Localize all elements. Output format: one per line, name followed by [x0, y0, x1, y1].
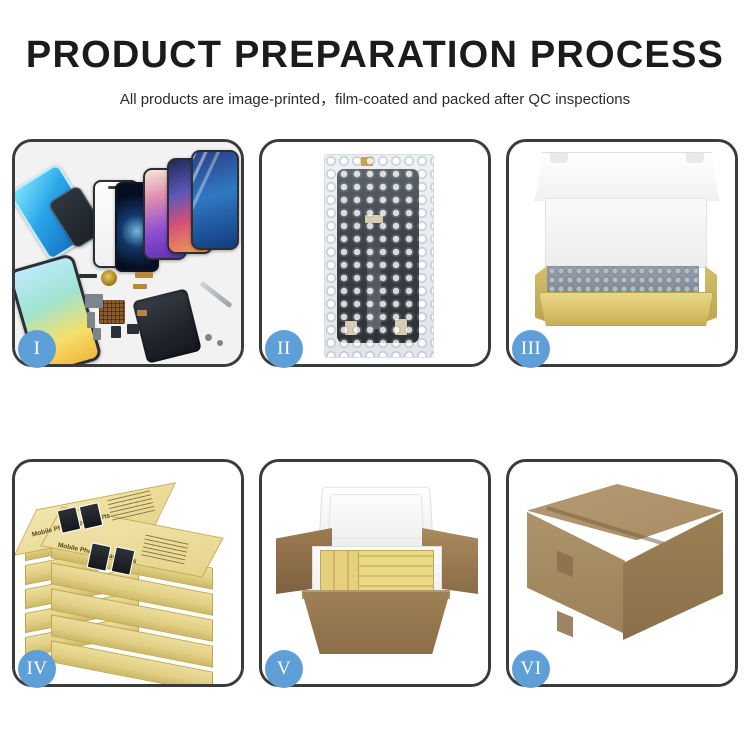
process-step-panel-3[interactable]: III	[506, 139, 738, 367]
step-badge-1: I	[18, 330, 56, 368]
step-badge-3: III	[512, 330, 550, 368]
wrapped-lcd-screen	[337, 169, 419, 343]
bubble-wrap-layer	[547, 266, 699, 296]
panel-photo-product-parts	[15, 142, 241, 364]
process-step-panel-6[interactable]: VI	[506, 459, 738, 687]
bag-seal-tab	[361, 157, 373, 166]
panel-photo-sealed-shipping-carton	[509, 462, 735, 684]
photo-carton-with-foam	[262, 462, 488, 684]
lcd-connector-left	[345, 321, 357, 335]
lcd-connector-right	[395, 319, 407, 335]
process-step-grid: I II	[12, 139, 738, 687]
camera-module	[111, 326, 121, 338]
screw-1	[205, 334, 212, 341]
photo-stacked-retail-boxes: Mobile Phone Spare Parts Mobile Phone Sp…	[15, 462, 241, 684]
step-badge-5: V	[265, 650, 303, 688]
photo-foam-lined-inner-box	[509, 142, 735, 364]
screw-2	[217, 340, 223, 346]
process-step-panel-2[interactable]: II	[259, 139, 491, 367]
process-step-panel-5[interactable]: V	[259, 459, 491, 687]
lcd-screen-blue-wave	[191, 150, 239, 250]
box-front-yellow	[539, 292, 713, 326]
foam-pad-white	[545, 198, 707, 268]
photo-product-parts	[15, 142, 241, 364]
page-subtitle: All products are image-printed，film-coat…	[0, 88, 750, 109]
step-badge-6: VI	[512, 650, 550, 688]
lcd-connector-top	[365, 215, 383, 223]
box-lid-white	[535, 152, 719, 201]
page-header: PRODUCT PREPARATION PROCESS All products…	[0, 0, 750, 109]
flex-cable-2	[133, 284, 147, 289]
carton-body	[302, 592, 450, 654]
antenna-strip	[79, 274, 97, 278]
foam-lid-open	[318, 487, 434, 552]
step-badge-4: IV	[18, 650, 56, 688]
step-badge-2: II	[265, 330, 303, 368]
page-title: PRODUCT PREPARATION PROCESS	[0, 36, 750, 74]
flex-cable-1	[135, 272, 153, 278]
sim-tray	[93, 328, 101, 340]
bracket-2	[87, 312, 95, 328]
tweezers-tool	[199, 281, 232, 308]
vibration-motor	[101, 270, 117, 286]
flex-cable-3	[137, 310, 147, 316]
panel-photo-bubble-wrapped-screen	[262, 142, 488, 364]
panel-photo-foam-lined-inner-box	[509, 142, 735, 364]
speaker-module	[127, 324, 139, 334]
photo-sealed-shipping-carton	[509, 462, 735, 684]
box-stack: Mobile Phone Spare Parts Mobile Phone Sp…	[23, 482, 235, 678]
panel-photo-stacked-retail-boxes: Mobile Phone Spare Parts Mobile Phone Sp…	[15, 462, 241, 684]
phone-backplate	[132, 288, 202, 364]
carton-tape-lower	[557, 611, 573, 637]
process-step-panel-4[interactable]: Mobile Phone Spare Parts Mobile Phone Sp…	[12, 459, 244, 687]
bracket-1	[85, 294, 103, 308]
panel-photo-carton-with-foam	[262, 462, 488, 684]
photo-bubble-wrapped-screen	[262, 142, 488, 364]
bubble-wrap-bag	[324, 154, 434, 358]
process-step-panel-1[interactable]: I	[12, 139, 244, 367]
lcd-flex-cable	[367, 221, 381, 329]
